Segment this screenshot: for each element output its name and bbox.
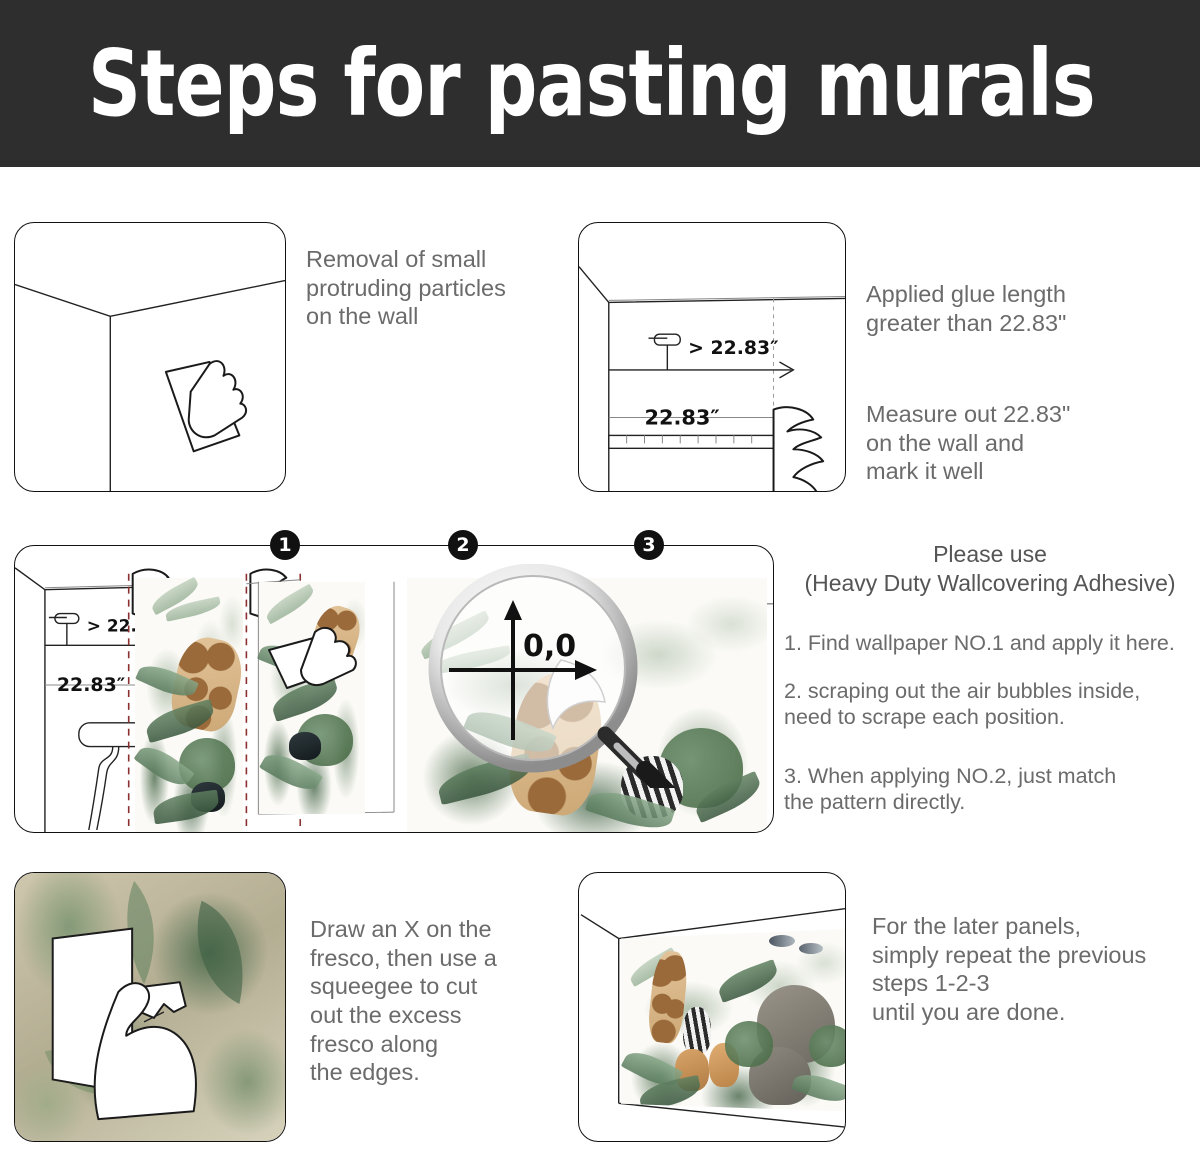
panel-sanding-illustration (14, 222, 286, 492)
instruction-step-1: 1. Find wallpaper NO.1 and apply it here… (784, 630, 1194, 656)
ruler-icon (609, 435, 776, 448)
origin-label: 0,0 (523, 629, 576, 664)
strip-paint-roller-icon (49, 614, 79, 646)
paint-roller-icon (648, 334, 680, 370)
hand-holding-ruler-icon (774, 407, 824, 491)
glue-length-label: > 22.83″ (688, 338, 778, 359)
panel-glue-measure-illustration: > 22.83″ 22.83″ (578, 222, 846, 492)
safari-mural-artwork (621, 929, 846, 1119)
measure-length-label: 22.83″ (645, 405, 720, 429)
strip-measure-label: 22.83″ (57, 674, 125, 696)
panel-wallpaper-application-strip: > 22.83″ 22.83″ (14, 545, 774, 833)
hand-and-squeegee-drawing (15, 873, 285, 1141)
panel-squeegee-illustration (14, 872, 286, 1142)
step-badge-1: 1 (270, 530, 300, 560)
header-bar: Steps for pasting murals (0, 0, 1200, 167)
caption-glue: Applied glue length greater than 22.83" (866, 280, 1166, 337)
instruction-step-2: 2. scraping out the air bubbles inside, … (784, 678, 1194, 730)
caption-measure: Measure out 22.83" on the wall and mark … (866, 400, 1186, 486)
adhesive-title: Please use (Heavy Duty Wallcovering Adhe… (790, 540, 1190, 598)
step-badge-3: 3 (634, 530, 664, 560)
wallpaper-panel-1 (135, 578, 243, 833)
sandpaper-and-hand-icon (166, 361, 246, 451)
wall-glue-measure-drawing: > 22.83″ 22.83″ (579, 223, 845, 491)
caption-final: For the later panels, simply repeat the … (872, 912, 1200, 1027)
room-corner-sanding-drawing (15, 223, 285, 491)
instruction-step-3: 3. When applying NO.2, just match the pa… (784, 763, 1194, 815)
magnifier-with-origin-axes: 0,0 (401, 564, 701, 788)
caption-sanding: Removal of small protruding particles on… (306, 245, 576, 331)
step-badge-2: 2 (448, 530, 478, 560)
page-title: Steps for pasting murals (88, 38, 1095, 130)
hand-smoothing-panel-icon (259, 606, 389, 716)
panel-final-mural-illustration (578, 872, 846, 1142)
caption-squeegee: Draw an X on the fresco, then use a sque… (310, 915, 560, 1087)
